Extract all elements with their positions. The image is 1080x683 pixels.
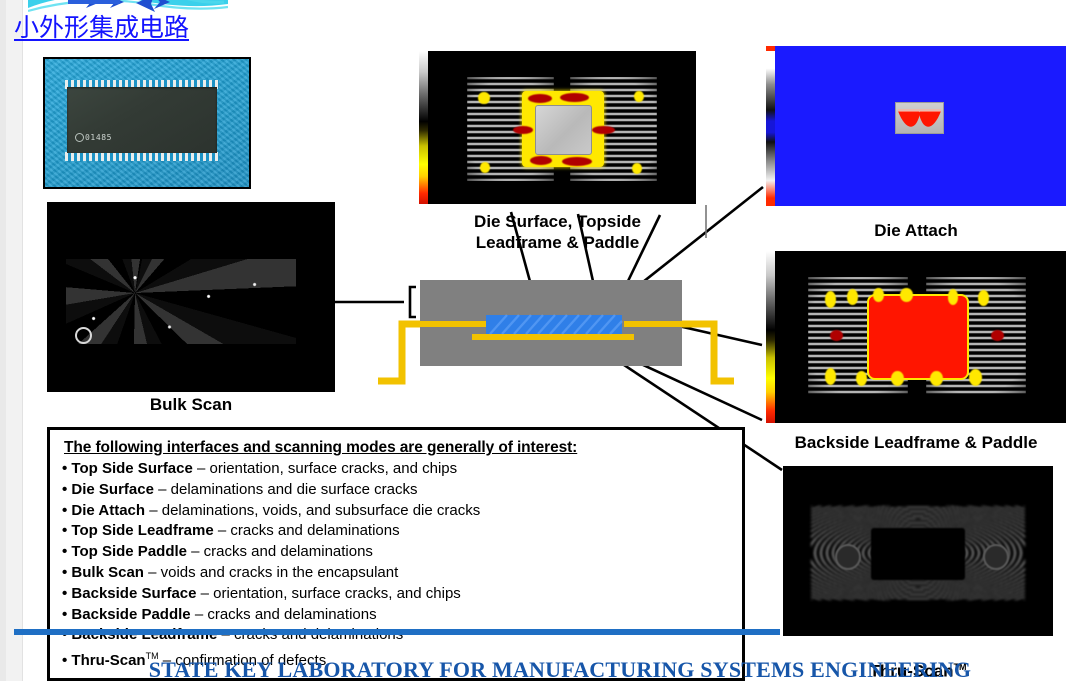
thru-scan-feature-right <box>983 544 1009 570</box>
paddle-delamination <box>869 296 967 378</box>
info-box-item-term: Backside Surface <box>71 585 196 602</box>
thru-scan-feature-left <box>835 544 861 570</box>
info-box-item: • Bulk Scan – voids and cracks in the en… <box>62 563 732 584</box>
info-box-list: • Top Side Surface – orientation, surfac… <box>62 459 732 672</box>
scan-field <box>467 77 657 181</box>
thru-scan <box>783 466 1053 636</box>
page-left-edge-shadow <box>0 0 6 681</box>
caption-die-attach: Die Attach <box>766 220 1066 241</box>
inner-lead-left <box>420 321 488 327</box>
info-box-item-desc: – voids and cracks in the encapsulant <box>144 564 398 581</box>
delam-spot <box>480 162 490 172</box>
die-surface <box>535 105 592 155</box>
package-photo: 01485 <box>43 57 251 189</box>
pin1-dot <box>75 133 84 142</box>
list-bullet: • <box>62 502 71 519</box>
delam-blob <box>528 94 553 103</box>
list-bullet: • <box>62 585 71 602</box>
info-box-item: • Die Attach – delaminations, voids, and… <box>62 501 732 522</box>
caption-backside-leadframe: Backside Leadframe & Paddle <box>760 432 1072 453</box>
thru-scan-paddle-shadow <box>871 528 965 580</box>
info-box-item-desc: – orientation, surface cracks, and chips <box>197 585 461 602</box>
color-scale-bar <box>766 251 775 423</box>
info-box-item-term: Die Surface <box>71 481 154 498</box>
info-box-item-desc: – orientation, surface cracks, and chips <box>193 460 457 477</box>
die-surface-topside-scan <box>419 51 696 204</box>
list-bullet: • <box>62 522 71 539</box>
delam-blob <box>560 93 589 102</box>
delam-blob <box>830 330 843 341</box>
delam-spot <box>632 163 642 173</box>
list-bullet: • <box>62 481 71 498</box>
list-bullet: • <box>62 543 71 560</box>
delam-spot <box>891 371 904 387</box>
list-bullet: • <box>62 652 71 669</box>
color-scale-bar <box>766 46 775 206</box>
scan-field <box>808 277 1026 397</box>
delam-spot <box>847 289 858 305</box>
info-box-item: • Top Side Paddle – cracks and delaminat… <box>62 542 732 563</box>
delam-spot <box>634 91 644 102</box>
backside-leadframe-paddle-scan <box>766 251 1066 423</box>
delam-spot <box>948 289 959 305</box>
inner-lead-right <box>624 321 682 327</box>
caption-bulk-scan: Bulk Scan <box>47 394 335 415</box>
die-attach-scan <box>766 46 1066 206</box>
info-box: The following interfaces and scanning mo… <box>47 427 745 681</box>
info-box-item: • Top Side Surface – orientation, surfac… <box>62 459 732 480</box>
info-box-item-desc: – delaminations, voids, and subsurface d… <box>145 502 480 519</box>
info-box-item-desc: – cracks and delaminations <box>191 606 377 623</box>
footer-text: STATE KEY LABORATORY FOR MANUFACTURING S… <box>110 657 1010 683</box>
list-bullet: • <box>62 460 71 477</box>
package-body <box>67 87 217 153</box>
delam-spot <box>856 371 867 387</box>
delam-spot <box>978 290 989 306</box>
bulk-scan <box>47 202 335 392</box>
info-box-item-desc: – cracks and delaminations <box>187 543 373 560</box>
info-box-item-term: Bulk Scan <box>71 564 144 581</box>
caption-die-surface-topside: Die Surface, Topside Leadframe & Paddle <box>419 211 696 253</box>
info-box-item: • Backside Paddle – cracks and delaminat… <box>62 605 732 626</box>
encapsulant-speckle-field <box>66 259 296 344</box>
delam-spot <box>478 92 489 104</box>
info-box-item: • Top Side Leadframe – cracks and delami… <box>62 521 732 542</box>
info-box-item-term: Backside Paddle <box>71 606 190 623</box>
info-box-item: • Die Surface – delaminations and die su… <box>62 480 732 501</box>
list-bullet: • <box>62 606 71 623</box>
page-title: 小外形集成电路 <box>14 14 189 42</box>
package-marking: 01485 <box>85 133 112 142</box>
info-box-item-term: Top Side Surface <box>71 460 192 477</box>
info-box-item-term: Die Attach <box>71 502 145 519</box>
info-box-item: • Backside Surface – orientation, surfac… <box>62 584 732 605</box>
info-box-item-desc: – delaminations and die surface cracks <box>154 481 417 498</box>
delam-blob <box>991 330 1004 341</box>
die-paddle <box>472 334 634 340</box>
package-pins-bottom <box>65 152 219 161</box>
footer-rule <box>14 629 780 635</box>
color-scale-bar <box>419 51 428 204</box>
void-marker <box>75 327 92 344</box>
package-cross-section-diagram <box>362 280 762 400</box>
info-box-item-term: Top Side Leadframe <box>71 522 213 539</box>
list-bullet: • <box>62 564 71 581</box>
delam-spot <box>900 288 913 302</box>
info-box-item-term: Top Side Paddle <box>71 543 187 560</box>
info-box-heading: The following interfaces and scanning mo… <box>64 439 732 457</box>
die-attach-region <box>895 102 944 134</box>
info-box-item-desc: – cracks and delaminations <box>214 522 400 539</box>
